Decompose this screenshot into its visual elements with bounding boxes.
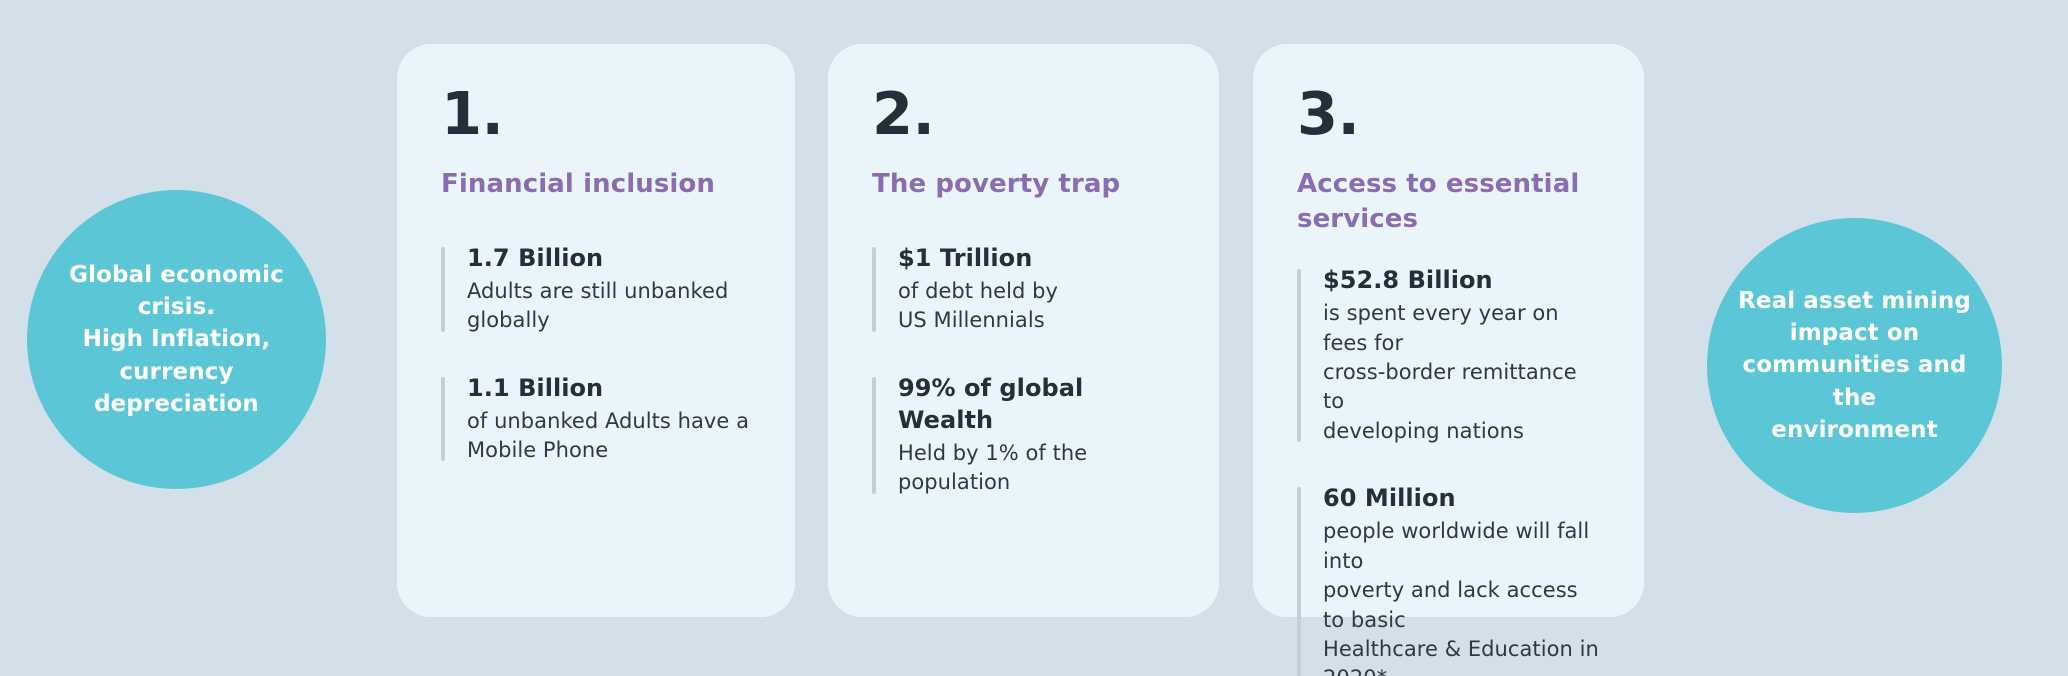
stat-headline: 1.7 Billion [467,242,751,274]
card-1-title: Financial inclusion [441,167,751,202]
left-circle-text: Global economic crisis. High Inflation, … [51,259,302,420]
card-2-title: The poverty trap [872,167,1175,202]
stat-detail: of unbanked Adults have a Mobile Phone [467,407,751,466]
stat-headline: $1 Trillion [898,242,1175,274]
stat-detail: of debt held by US Millennials [898,277,1175,336]
stat-block: 60 Million people worldwide will fall in… [1297,482,1600,676]
stat-block: $1 Trillion of debt held by US Millennia… [872,242,1175,336]
stat-detail: people worldwide will fall into poverty … [1323,517,1600,676]
right-circle-text: Real asset mining impact on communities … [1707,285,2002,446]
card-access-essential-services: 3. Access to essential services $52.8 Bi… [1253,44,1644,617]
stat-block: 99% of global Wealth Held by 1% of the p… [872,372,1175,498]
accent-bar [872,247,876,332]
card-financial-inclusion: 1. Financial inclusion 1.7 Billion Adult… [397,44,795,617]
stat-block: 1.1 Billion of unbanked Adults have a Mo… [441,372,751,466]
stat-block: $52.8 Billion is spent every year on fee… [1297,264,1600,446]
stat-detail: Adults are still unbanked globally [467,277,751,336]
right-context-circle: Real asset mining impact on communities … [1707,218,2002,513]
card-1-number: 1. [441,84,751,143]
accent-bar [1297,269,1301,442]
accent-bar [441,377,445,462]
card-poverty-trap: 2. The poverty trap $1 Trillion of debt … [828,44,1219,617]
stat-headline: 60 Million [1323,482,1600,514]
stat-headline: $52.8 Billion [1323,264,1600,296]
stat-headline: 99% of global Wealth [898,372,1175,436]
card-3-title: Access to essential services [1297,167,1600,236]
stat-block: 1.7 Billion Adults are still unbanked gl… [441,242,751,336]
card-3-number: 3. [1297,84,1600,143]
accent-bar [441,247,445,332]
infographic-canvas: Global economic crisis. High Inflation, … [0,0,2068,676]
card-2-number: 2. [872,84,1175,143]
stat-headline: 1.1 Billion [467,372,751,404]
stat-detail: Held by 1% of the population [898,439,1175,498]
stat-detail: is spent every year on fees for cross-bo… [1323,299,1600,446]
left-context-circle: Global economic crisis. High Inflation, … [27,190,326,489]
accent-bar [872,377,876,494]
accent-bar [1297,487,1301,676]
